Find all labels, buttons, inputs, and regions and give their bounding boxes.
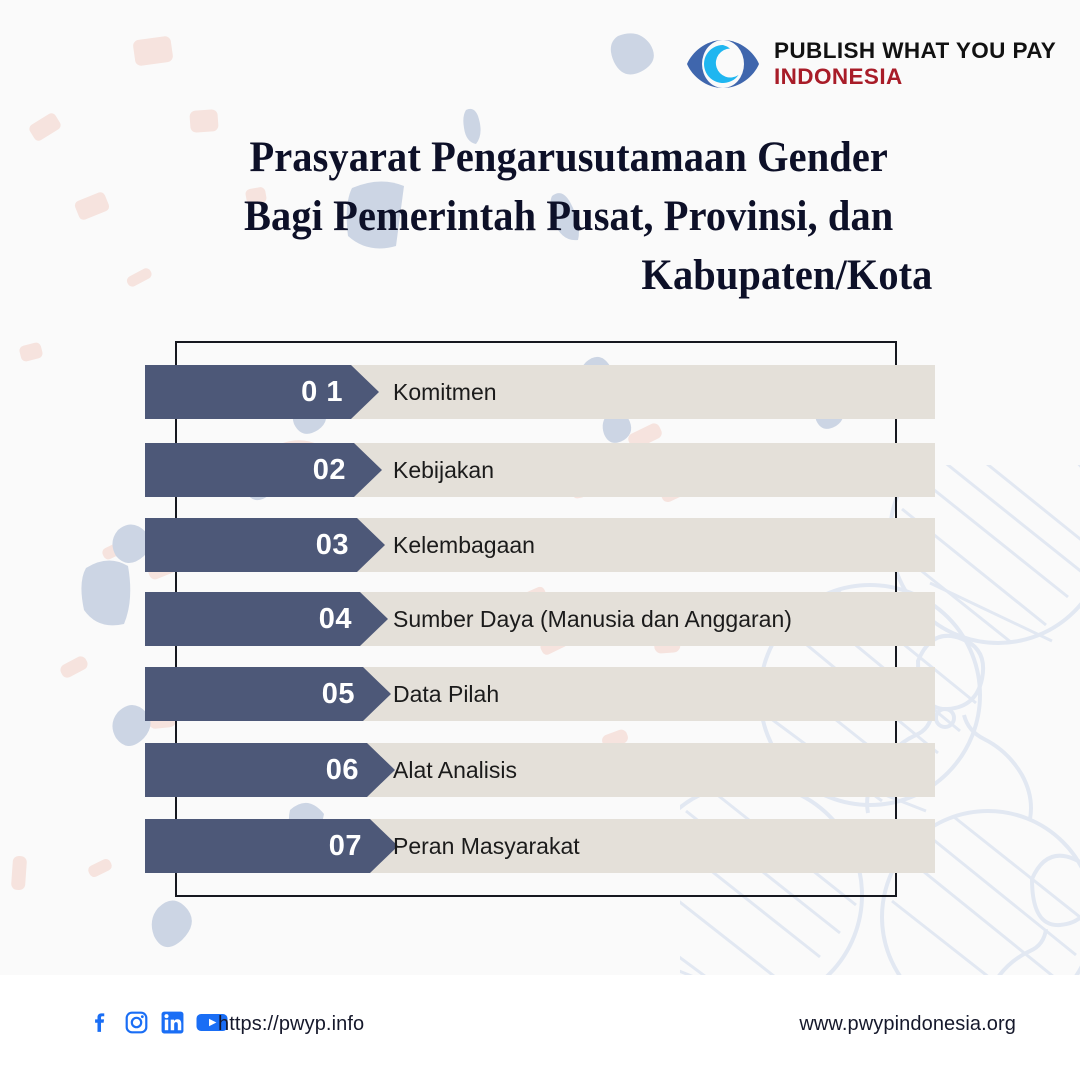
row-number: 03 <box>145 518 349 572</box>
list-item[interactable]: 06 Alat Analisis <box>145 743 935 797</box>
list-item[interactable]: 02 Kebijakan <box>145 443 935 497</box>
infographic-canvas: PUBLISH WHAT YOU PAY INDONESIA Prasyarat… <box>0 0 1080 1080</box>
row-label: Alat Analisis <box>393 743 517 797</box>
row-label: Komitmen <box>393 365 497 419</box>
row-label: Kebijakan <box>393 443 494 497</box>
row-number: 05 <box>145 667 355 721</box>
row-label: Kelembagaan <box>393 518 535 572</box>
list-item[interactable]: 07 Peran Masyarakat <box>145 819 935 873</box>
row-number: 0 1 <box>145 365 343 419</box>
list-item[interactable]: 0 1 Komitmen <box>145 365 935 419</box>
row-label: Sumber Daya (Manusia dan Anggaran) <box>393 592 792 646</box>
list-item[interactable]: 04 Sumber Daya (Manusia dan Anggaran) <box>145 592 935 646</box>
row-label: Data Pilah <box>393 667 499 721</box>
list-item[interactable]: 03 Kelembagaan <box>145 518 935 572</box>
footer-url-left[interactable]: https://pwyp.info <box>218 1013 364 1036</box>
row-number: 06 <box>145 743 359 797</box>
poster-stage: PUBLISH WHAT YOU PAY INDONESIA Prasyarat… <box>0 0 1080 975</box>
row-label: Peran Masyarakat <box>393 819 580 873</box>
row-number: 02 <box>145 443 346 497</box>
row-number: 04 <box>145 592 352 646</box>
facebook-icon[interactable] <box>88 1010 113 1035</box>
linkedin-icon[interactable] <box>160 1010 185 1035</box>
row-number: 07 <box>145 819 362 873</box>
list-item[interactable]: 05 Data Pilah <box>145 667 935 721</box>
social-links <box>88 1010 228 1035</box>
requirements-list: 0 1 Komitmen 02 Kebijakan 03 Kelembagaan… <box>0 0 1080 975</box>
instagram-icon[interactable] <box>124 1010 149 1035</box>
footer-url-right[interactable]: www.pwypindonesia.org <box>799 1013 1016 1036</box>
